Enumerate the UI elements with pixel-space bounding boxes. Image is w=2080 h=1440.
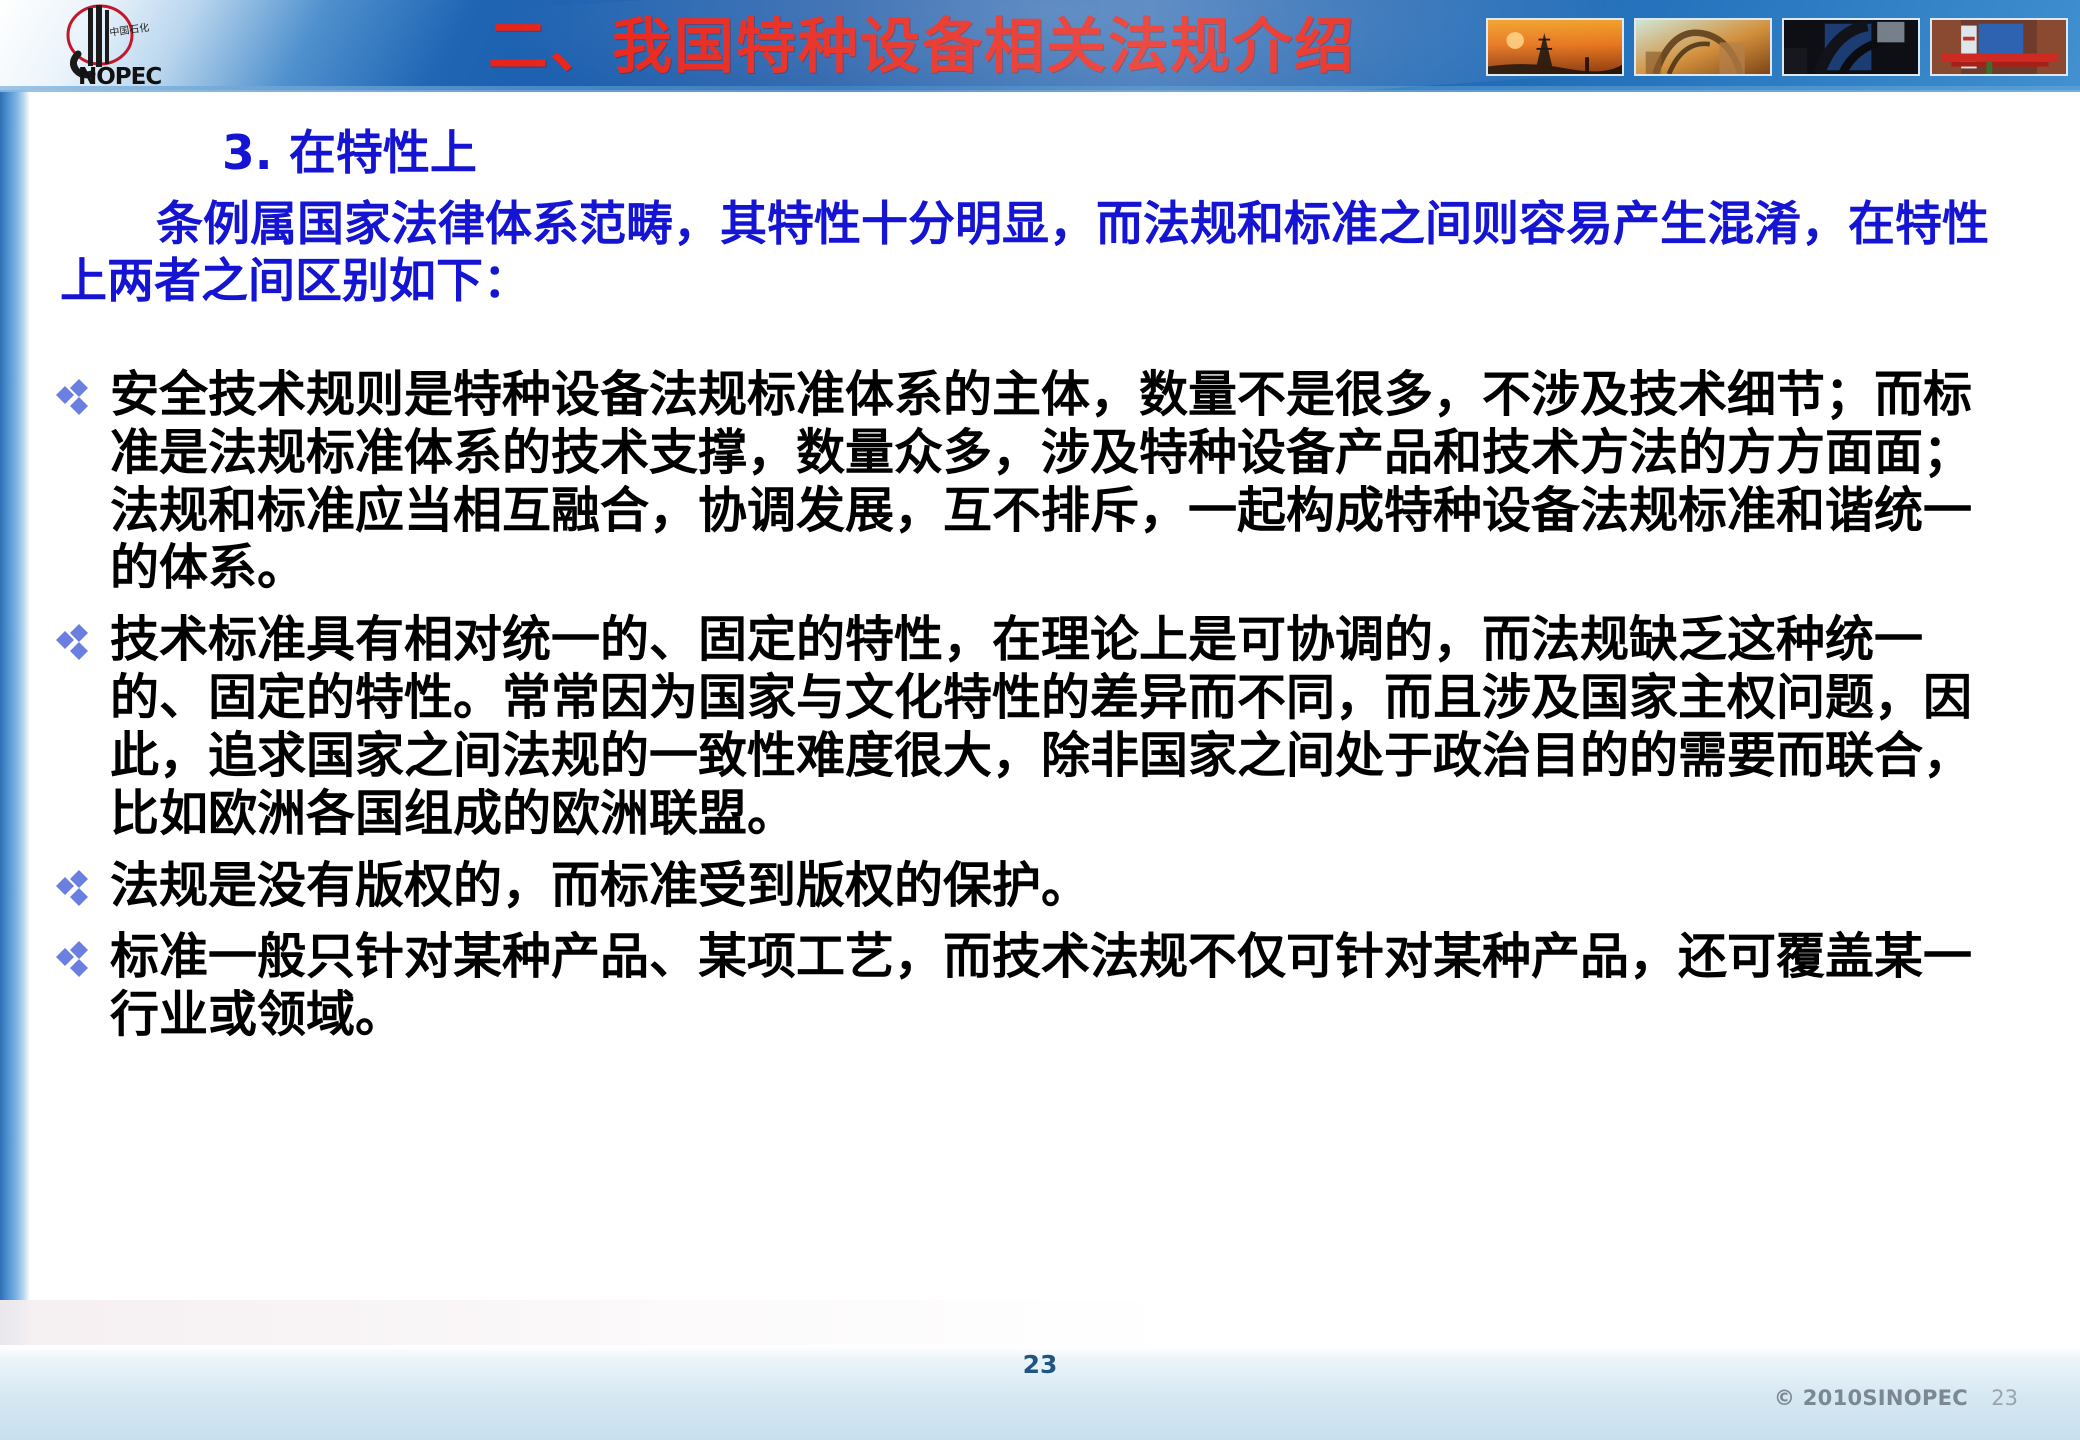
footer-copyright: © 2010SINOPEC	[1774, 1386, 1968, 1410]
list-item: 技术标准具有相对统一的、固定的特性，在理论上是可协调的，而法规缺乏这种统一的、固…	[52, 611, 2012, 842]
list-item: 法规是没有版权的，而标准受到版权的保护。	[52, 857, 2012, 915]
footer-sheen	[0, 1300, 1180, 1348]
svg-text:NOPEC: NOPEC	[78, 64, 161, 88]
dark-machinery-thumbnail	[1782, 18, 1920, 76]
sinopec-logo: 中国石化 NOPEC	[48, 2, 178, 88]
diamond-bullet-icon	[54, 621, 98, 665]
header-thumbnail-strip	[1486, 18, 2068, 76]
list-item-text: 法规是没有版权的，而标准受到版权的保护。	[110, 857, 1090, 914]
page-title: 二、我国特种设备相关法规介绍	[352, 8, 1492, 86]
diamond-bullet-icon	[54, 938, 98, 982]
diamond-bullet-icon	[54, 867, 98, 911]
header-bottom-edge	[0, 86, 2080, 92]
list-item: 安全技术规则是特种设备法规标准体系的主体，数量不是很多，不涉及技术细节；而标准是…	[52, 366, 2012, 597]
footer-slide-number: 23	[1991, 1386, 2018, 1410]
list-item-text: 标准一般只针对某种产品、某项工艺，而技术法规不仅可针对某种产品，还可覆盖某一行业…	[110, 928, 1972, 1043]
intro-paragraph: 条例属国家法律体系范畴，其特性十分明显，而法规和标准之间则容易产生混淆，在特性上…	[60, 196, 1995, 311]
footer-page-number: 23	[0, 1350, 2080, 1379]
list-item: 标准一般只针对某种产品、某项工艺，而技术法规不仅可针对某种产品，还可覆盖某一行业…	[52, 928, 2012, 1044]
oil-derrick-sunset-thumbnail	[1486, 18, 1624, 76]
slide-content: 3. 在特性上 条例属国家法律体系范畴，其特性十分明显，而法规和标准之间则容易产…	[0, 96, 2080, 1296]
list-item-text: 安全技术规则是特种设备法规标准体系的主体，数量不是很多，不涉及技术细节；而标准是…	[110, 366, 1972, 596]
slide-header-banner: 中国石化 NOPEC 二、我国特种设备相关法规介绍	[0, 0, 2080, 90]
diamond-bullet-icon	[54, 376, 98, 420]
industrial-piping-thumbnail	[1634, 18, 1772, 76]
list-item-text: 技术标准具有相对统一的、固定的特性，在理论上是可协调的，而法规缺乏这种统一的、固…	[110, 611, 1972, 841]
red-building-structure-thumbnail	[1930, 18, 2068, 76]
section-heading: 3. 在特性上	[222, 128, 477, 180]
slide: 中国石化 NOPEC 二、我国特种设备相关法规介绍	[0, 0, 2080, 1440]
bullet-list: 安全技术规则是特种设备法规标准体系的主体，数量不是很多，不涉及技术细节；而标准是…	[52, 366, 2012, 1058]
